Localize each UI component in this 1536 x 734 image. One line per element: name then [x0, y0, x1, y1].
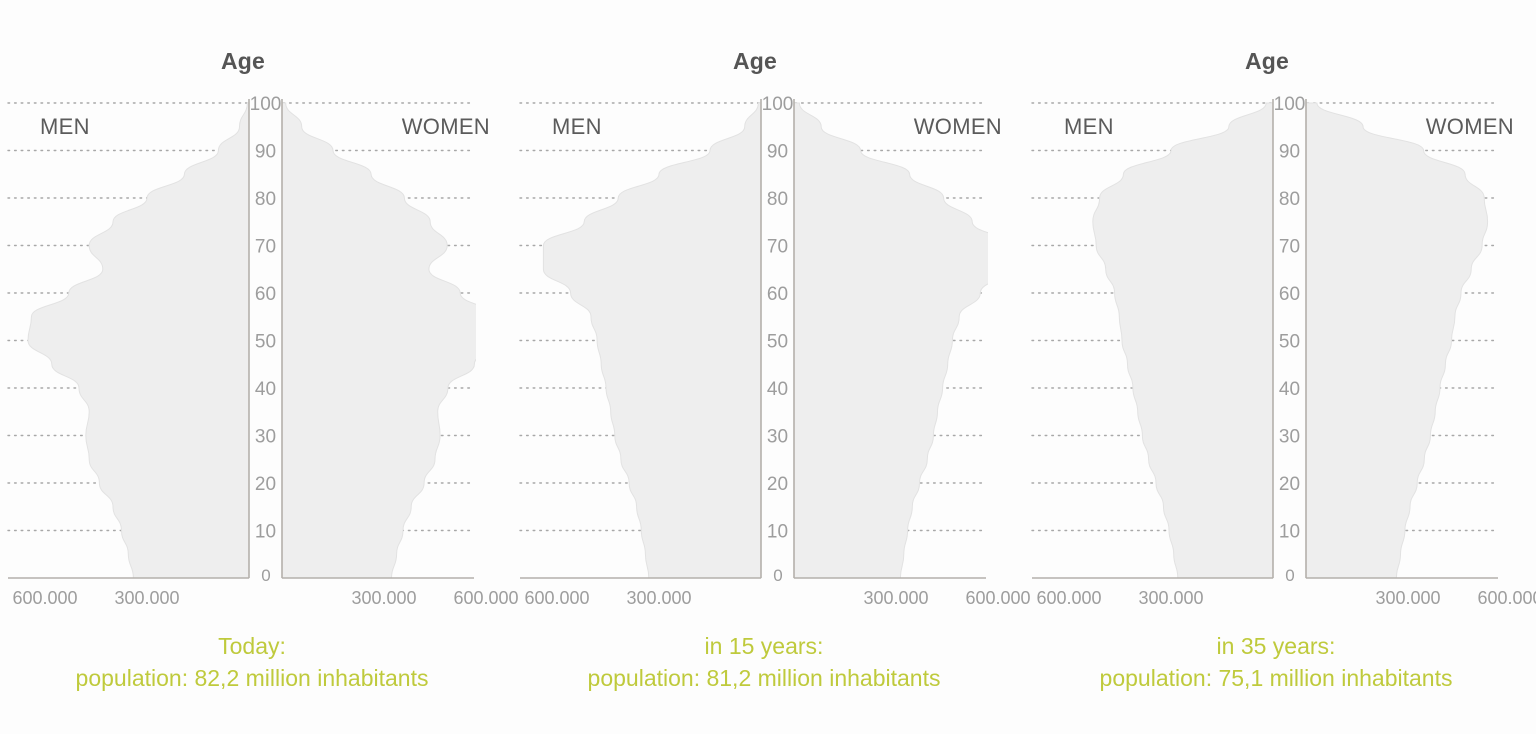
x-tick-zero: 0	[1285, 566, 1294, 586]
x-tick-right-600000: 600.000	[1477, 588, 1536, 609]
panel-caption: in 15 years:population: 81,2 million inh…	[512, 630, 1024, 694]
y-tick-80: 80	[767, 189, 788, 210]
x-tick-right-300000: 300.000	[1375, 588, 1440, 609]
panel-title-age: Age	[1024, 48, 1536, 75]
x-axis-ticks: 600.000300.000300.000600.000	[1030, 588, 1500, 614]
x-tick-right-300000: 300.000	[863, 588, 928, 609]
x-tick-zero: 0	[261, 566, 270, 586]
y-tick-30: 30	[255, 427, 276, 448]
women-label: WOMEN	[914, 114, 1002, 140]
panel-title-age: Age	[0, 48, 512, 75]
y-tick-70: 70	[255, 237, 276, 258]
men-label: MEN	[40, 114, 90, 140]
caption-population: population: 81,2 million inhabitants	[512, 662, 1016, 694]
y-tick-10: 10	[767, 522, 788, 543]
y-tick-50: 50	[767, 332, 788, 353]
women-area	[282, 103, 476, 578]
caption-period: in 35 years:	[1024, 630, 1528, 662]
women-area	[794, 103, 988, 578]
x-axis-ticks: 600.000300.000300.000600.000	[518, 588, 988, 614]
y-tick-60: 60	[1279, 284, 1300, 305]
x-tick-left-600000: 600.000	[12, 588, 77, 609]
y-tick-50: 50	[255, 332, 276, 353]
y-tick-10: 10	[255, 522, 276, 543]
y-tick-80: 80	[255, 189, 276, 210]
y-tick-10: 10	[1279, 522, 1300, 543]
x-tick-right-300000: 300.000	[351, 588, 416, 609]
y-tick-60: 60	[767, 284, 788, 305]
y-tick-40: 40	[1279, 379, 1300, 400]
pyramid-chart: 102030405060708090100	[6, 95, 476, 590]
population-pyramid-figure: Age102030405060708090100MENWOMEN0600.000…	[0, 0, 1536, 734]
y-tick-70: 70	[767, 237, 788, 258]
x-tick-zero: 0	[773, 566, 782, 586]
panel-title-age: Age	[512, 48, 1024, 75]
x-tick-left-600000: 600.000	[524, 588, 589, 609]
y-tick-90: 90	[1279, 142, 1300, 163]
women-label: WOMEN	[402, 114, 490, 140]
y-tick-100: 100	[250, 95, 282, 115]
y-tick-20: 20	[1279, 474, 1300, 495]
x-tick-right-600000: 600.000	[453, 588, 518, 609]
y-tick-90: 90	[255, 142, 276, 163]
y-tick-80: 80	[1279, 189, 1300, 210]
y-tick-30: 30	[767, 427, 788, 448]
y-tick-40: 40	[255, 379, 276, 400]
men-area	[28, 103, 249, 578]
pyramid-panel-3: Age102030405060708090100MENWOMEN0600.000…	[1024, 0, 1536, 734]
x-tick-left-600000: 600.000	[1036, 588, 1101, 609]
y-tick-40: 40	[767, 379, 788, 400]
caption-population: population: 82,2 million inhabitants	[0, 662, 504, 694]
y-tick-50: 50	[1279, 332, 1300, 353]
y-tick-70: 70	[1279, 237, 1300, 258]
caption-period: in 15 years:	[512, 630, 1016, 662]
x-axis-ticks: 600.000300.000300.000600.000	[6, 588, 476, 614]
x-tick-right-600000: 600.000	[965, 588, 1030, 609]
panel-caption: Today:population: 82,2 million inhabitan…	[0, 630, 512, 694]
panel-container: Age102030405060708090100MENWOMEN0600.000…	[0, 0, 1536, 734]
pyramid-chart: 102030405060708090100	[518, 95, 988, 590]
y-tick-100: 100	[1274, 95, 1306, 115]
y-tick-20: 20	[255, 474, 276, 495]
y-tick-20: 20	[767, 474, 788, 495]
men-area	[543, 103, 761, 578]
panel-caption: in 35 years:population: 75,1 million inh…	[1024, 630, 1536, 694]
caption-period: Today:	[0, 630, 504, 662]
y-tick-30: 30	[1279, 427, 1300, 448]
y-tick-100: 100	[762, 95, 794, 115]
caption-population: population: 75,1 million inhabitants	[1024, 662, 1528, 694]
pyramid-chart: 102030405060708090100	[1030, 95, 1500, 590]
pyramid-panel-2: Age102030405060708090100MENWOMEN0600.000…	[512, 0, 1024, 734]
x-tick-left-300000: 300.000	[626, 588, 691, 609]
pyramid-panel-1: Age102030405060708090100MENWOMEN0600.000…	[0, 0, 512, 734]
x-tick-left-300000: 300.000	[114, 588, 179, 609]
women-label: WOMEN	[1426, 114, 1514, 140]
x-tick-left-300000: 300.000	[1138, 588, 1203, 609]
y-tick-90: 90	[767, 142, 788, 163]
men-label: MEN	[1064, 114, 1114, 140]
men-label: MEN	[552, 114, 602, 140]
y-tick-60: 60	[255, 284, 276, 305]
